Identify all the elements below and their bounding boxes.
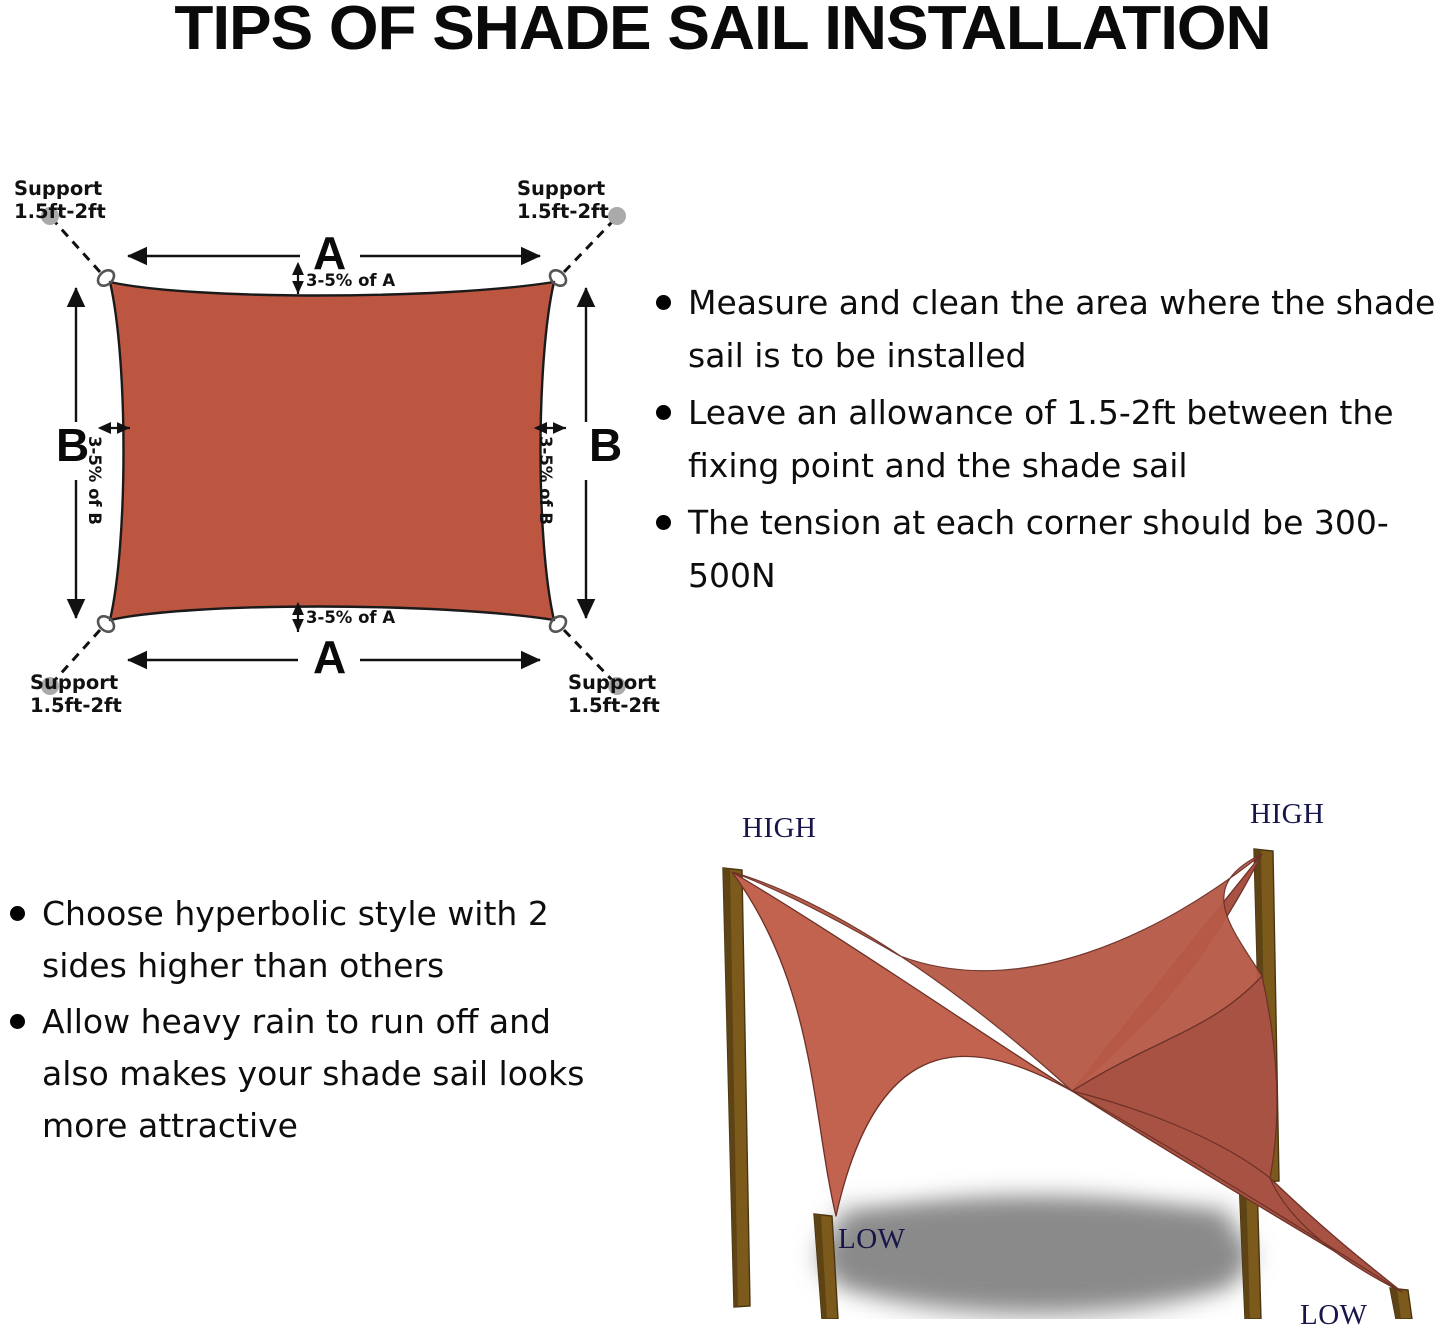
rectangle-sail-diagram: Support 1.5ft-2ft Support 1.5ft-2ft Supp… <box>0 160 650 740</box>
label-low-left: LOW <box>838 1223 906 1256</box>
support-label-line2: 1.5ft-2ft <box>14 200 106 223</box>
list-item: Allow heavy rain to run off and also mak… <box>2 996 627 1152</box>
dimension-letter-A-bottom: A <box>313 634 346 680</box>
list-item: Leave an allowance of 1.5-2ft between th… <box>648 386 1445 492</box>
post-low-left <box>814 1214 838 1319</box>
tolerance-label-bottom: 3-5% of A <box>306 610 395 627</box>
support-label-line1: Support <box>30 671 118 694</box>
shade-sail-shape <box>110 282 554 620</box>
support-label-line1: Support <box>14 177 102 200</box>
support-label-line2: 1.5ft-2ft <box>30 694 122 717</box>
post-low-right <box>1390 1288 1412 1319</box>
support-label-line1: Support <box>568 671 656 694</box>
label-low-right: LOW <box>1300 1299 1368 1332</box>
support-label-line1: Support <box>517 177 605 200</box>
dimension-letter-B-right: B <box>589 422 622 468</box>
list-item: The tension at each corner should be 300… <box>648 496 1445 602</box>
support-label-bottom-left: Support 1.5ft-2ft <box>30 672 122 717</box>
hyperbolic-style-tips-list: Choose hyperbolic style with 2 sides hig… <box>2 888 627 1156</box>
label-high-left: HIGH <box>742 812 817 845</box>
support-label-bottom-right: Support 1.5ft-2ft <box>568 672 660 717</box>
hyperbolic-sail-diagram: HIGH HIGH LOW LOW <box>690 786 1445 1319</box>
post-high-left <box>723 868 750 1307</box>
tolerance-label-top: 3-5% of A <box>306 273 395 290</box>
installation-tips-list: Measure and clean the area where the sha… <box>648 276 1445 606</box>
support-label-top-right: Support 1.5ft-2ft <box>517 178 609 223</box>
list-item: Choose hyperbolic style with 2 sides hig… <box>2 888 627 992</box>
support-label-line2: 1.5ft-2ft <box>517 200 609 223</box>
support-label-top-left: Support 1.5ft-2ft <box>14 178 106 223</box>
page-title: TIPS OF SHADE SAIL INSTALLATION <box>0 0 1445 61</box>
label-high-right: HIGH <box>1250 798 1325 831</box>
dimension-letter-A-top: A <box>313 230 346 276</box>
tolerance-label-left: 3-5% of B <box>86 436 103 525</box>
hyperbolic-sail-svg <box>690 786 1445 1319</box>
support-label-line2: 1.5ft-2ft <box>568 694 660 717</box>
tolerance-label-right: 3-5% of B <box>537 436 554 525</box>
list-item: Measure and clean the area where the sha… <box>648 276 1445 382</box>
